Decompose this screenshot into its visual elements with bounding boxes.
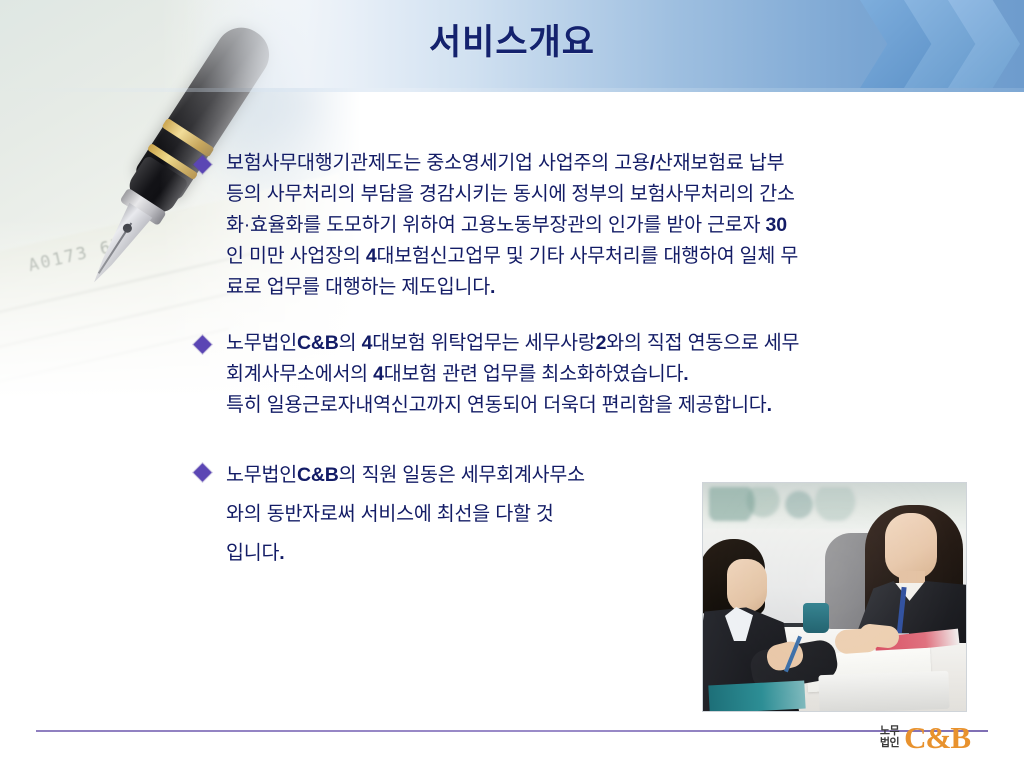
logo-korean-text: 노무 법인: [880, 725, 899, 751]
diamond-bullet-icon: [193, 335, 211, 353]
diamond-bullet-icon: [193, 463, 211, 481]
page-title: 서비스개요: [0, 14, 1024, 65]
bullet-2-line-1: 노무법인C&B의 4대보험 위탁업무는 세무사랑2와의 직접 연동으로 세무: [226, 328, 799, 359]
bullet-1-text: 보험사무대행기관제도는 중소영세기업 사업주의 고용/산재보험료 납부 등의 사…: [226, 148, 798, 303]
bullet-1-line-2: 등의 사무처리의 부담을 경감시키는 동시에 정부의 보험사무처리의 간소: [226, 179, 798, 210]
bullet-3-line-3: 입니다.: [226, 534, 585, 573]
logo-kr-line-2: 법인: [880, 737, 899, 749]
bullet-block-2: 노무법인C&B의 4대보험 위탁업무는 세무사랑2와의 직접 연동으로 세무 회…: [196, 328, 966, 421]
consultation-photo: [703, 483, 966, 711]
bullet-2-line-3: 특히 일용근로자내역신고까지 연동되어 더욱더 편리함을 제공합니다.: [226, 390, 799, 421]
bullet-2-text: 노무법인C&B의 4대보험 위탁업무는 세무사랑2와의 직접 연동으로 세무 회…: [226, 328, 799, 421]
logo-kr-line-1: 노무: [880, 725, 899, 737]
bullet-2-line-2: 회계사무소에서의 4대보험 관련 업무를 최소화하였습니다.: [226, 359, 799, 390]
bullet-1-line-3: 화·효율화를 도모하기 위하여 고용노동부장관의 인가를 받아 근로자 30: [226, 210, 798, 241]
bullet-3-line-2: 와의 동반자로써 서비스에 최선을 다할 것: [226, 495, 585, 534]
bullet-block-3: 노무법인C&B의 직원 일동은 세무회계사무소 와의 동반자로써 서비스에 최선…: [196, 456, 716, 573]
bullet-1-line-5: 료로 업무를 대행하는 제도입니다.: [226, 272, 798, 303]
logo-brand-text: C&B: [904, 722, 970, 754]
company-logo: 노무 법인 C&B: [880, 722, 970, 754]
bullet-block-1: 보험사무대행기관제도는 중소영세기업 사업주의 고용/산재보험료 납부 등의 사…: [196, 148, 966, 303]
footer-divider: [36, 730, 988, 732]
bullet-3-text: 노무법인C&B의 직원 일동은 세무회계사무소 와의 동반자로써 서비스에 최선…: [226, 456, 585, 573]
bullet-1-line-1: 보험사무대행기관제도는 중소영세기업 사업주의 고용/산재보험료 납부: [226, 148, 798, 179]
bullet-3-line-1: 노무법인C&B의 직원 일동은 세무회계사무소: [226, 456, 585, 495]
diamond-bullet-icon: [193, 155, 211, 173]
bullet-1-line-4: 인 미만 사업장의 4대보험신고업무 및 기타 사무처리를 대행하여 일체 무: [226, 241, 798, 272]
